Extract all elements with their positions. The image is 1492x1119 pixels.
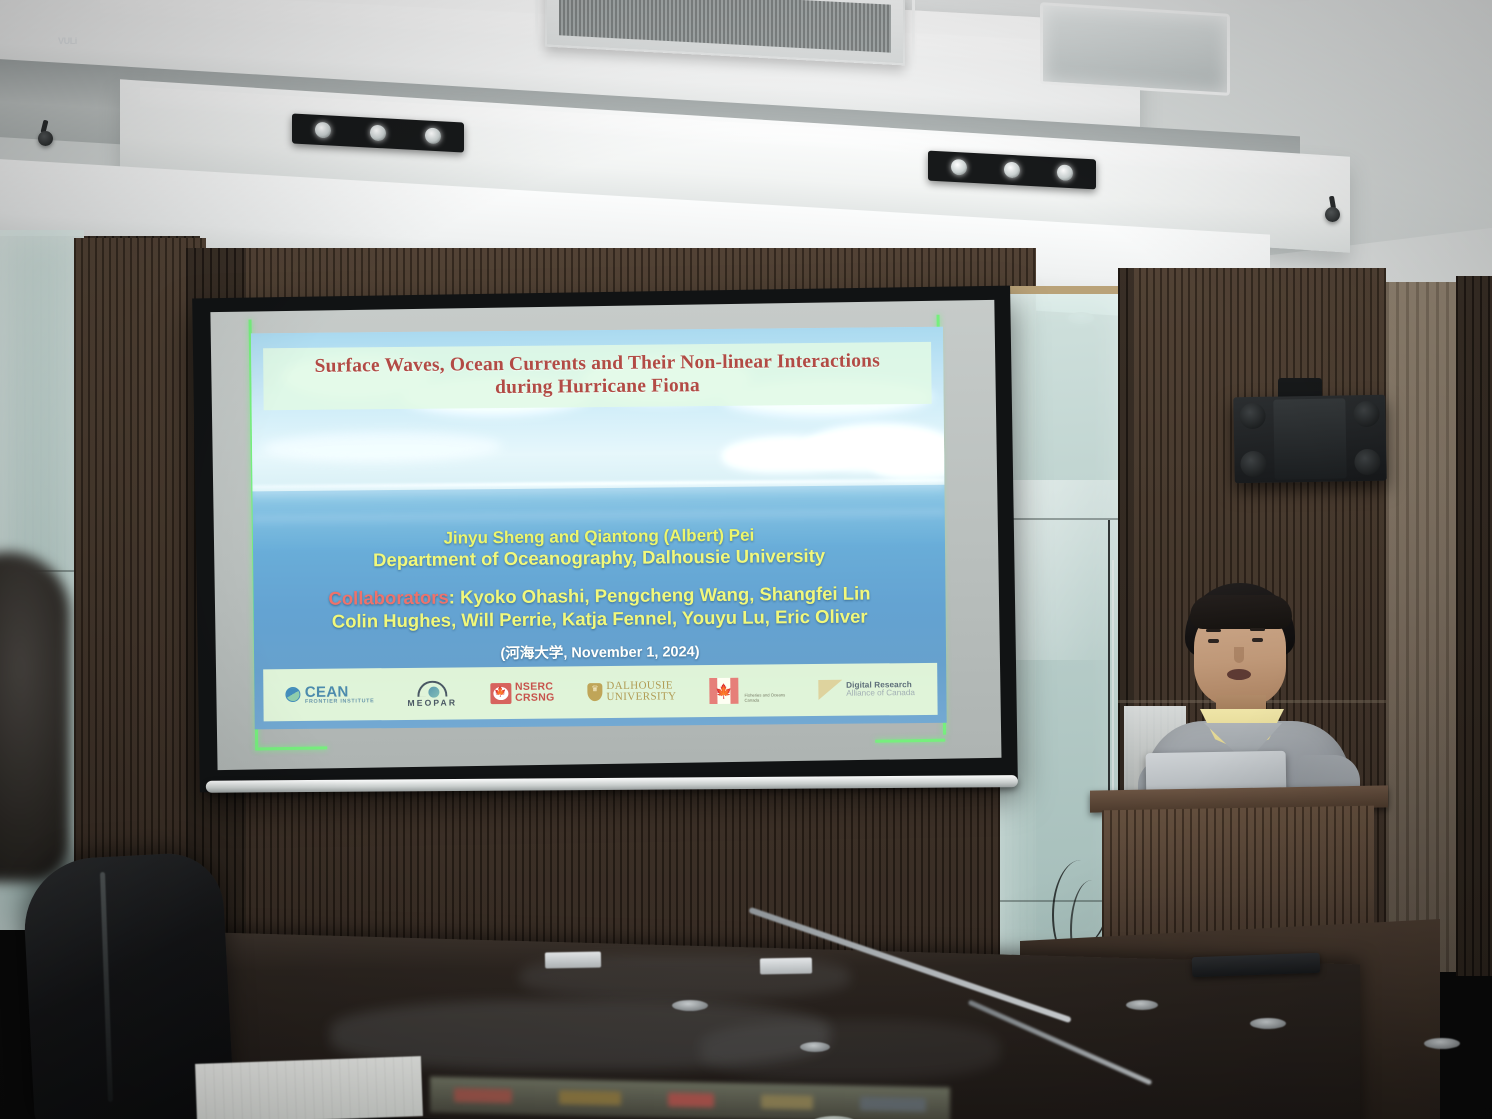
ofi-subtitle: FRONTIER INSTITUTE xyxy=(305,699,375,705)
presenter-eye xyxy=(1252,638,1263,642)
table-object xyxy=(760,958,812,975)
table-microphone-base xyxy=(1424,1038,1460,1049)
speaker-cone-icon xyxy=(1240,451,1266,477)
wall-panel-far-right-light xyxy=(1386,282,1460,972)
table-microphone-base xyxy=(1250,1018,1286,1029)
paper-document-foreground xyxy=(195,1056,423,1119)
slide-title-box: Surface Waves, Ocean Currents and Their … xyxy=(263,342,932,410)
audience-member-head-foreground xyxy=(0,552,70,882)
spotlight-icon xyxy=(951,159,967,176)
spotlight-icon xyxy=(315,122,331,139)
logo-dalhousie-university: ♛ DALHOUSIE UNIVERSITY xyxy=(587,680,676,703)
logo-ocean-frontier-institute: CEAN FRONTIER INSTITUTE xyxy=(286,684,375,706)
presenter-eyebrow xyxy=(1206,629,1221,632)
alliance-wordmark-suffix: of Canada xyxy=(875,688,915,697)
speaker-cone-icon xyxy=(1353,401,1379,427)
collaborators-names-1: : Kyoko Ohashi, Pengcheng Wang, Shangfei… xyxy=(449,582,871,607)
glass-partition-header xyxy=(1000,286,1128,294)
dalhousie-wordmark-line-2: UNIVERSITY xyxy=(606,691,676,703)
table-microphone-base xyxy=(672,1000,708,1011)
wave-crest xyxy=(872,445,947,480)
presenter-mouth xyxy=(1227,669,1251,680)
sprinkler-head-right xyxy=(1325,207,1340,222)
speaker-brand-label: VULi xyxy=(58,36,114,48)
spotlight-icon xyxy=(1057,164,1073,181)
ac-grille-icon xyxy=(559,0,891,53)
nserc-wordmark-fr: CRSNG xyxy=(515,693,555,704)
speaker-center-panel xyxy=(1273,398,1346,479)
logo-meopar: MEOPAR xyxy=(407,680,457,707)
projection-screen: Surface Waves, Ocean Currents and Their … xyxy=(192,286,1018,793)
collaborators-label: Collaborators xyxy=(328,587,448,609)
presenter-eye xyxy=(1208,639,1219,643)
logo-nserc-crsng: 🍁 NSERC CRSNG xyxy=(490,682,555,704)
nserc-maple-icon: 🍁 xyxy=(490,682,511,703)
presenter-eyebrow xyxy=(1250,628,1265,631)
conference-room-photo: VULi Surface Waves, Ocean Currents and T… xyxy=(0,0,1492,1119)
ceiling-vent xyxy=(1040,2,1230,96)
wall-panel-far-right-dark xyxy=(1456,276,1492,976)
table-microphone-base xyxy=(800,1042,830,1052)
table-reflection xyxy=(700,1020,1000,1080)
ocean-globe-icon xyxy=(286,687,301,702)
table-object xyxy=(545,952,601,969)
spotlight-icon xyxy=(370,125,386,142)
sprinkler-head-left xyxy=(38,131,53,146)
alliance-wordmark-line-2: Alliance xyxy=(846,688,875,697)
wall-speaker xyxy=(1233,395,1386,484)
spotlight-icon xyxy=(1004,162,1020,179)
presenter-hair-front xyxy=(1190,595,1292,629)
logo-fisheries-and-oceans-canada: 🍁 Fisheries and Oceans Canada xyxy=(709,677,785,704)
alliance-triangle-icon xyxy=(818,680,842,700)
speaker-cone-icon xyxy=(1239,403,1265,429)
dfo-label-line-2: Canada xyxy=(745,698,786,703)
speaker-cone-icon xyxy=(1354,449,1380,475)
slide-venue-date: (河海大学, November 1, 2024) xyxy=(254,641,946,666)
meopar-wordmark: MEOPAR xyxy=(407,697,457,707)
meopar-wave-icon xyxy=(428,686,439,697)
table-microphone-base xyxy=(1126,1000,1158,1010)
slide-logo-strip: CEAN FRONTIER INSTITUTE MEOPAR 🍁 NSE xyxy=(263,663,937,721)
dalhousie-shield-icon: ♛ xyxy=(587,683,602,701)
meopar-arc-icon xyxy=(417,680,447,696)
presenter-nose xyxy=(1234,647,1244,663)
slide-content: Surface Waves, Ocean Currents and Their … xyxy=(251,327,947,730)
canada-flag-icon: 🍁 xyxy=(709,678,738,704)
logo-digital-research-alliance: Digital Research Alliance of Canada xyxy=(818,679,915,700)
spotlight-icon xyxy=(425,127,441,144)
